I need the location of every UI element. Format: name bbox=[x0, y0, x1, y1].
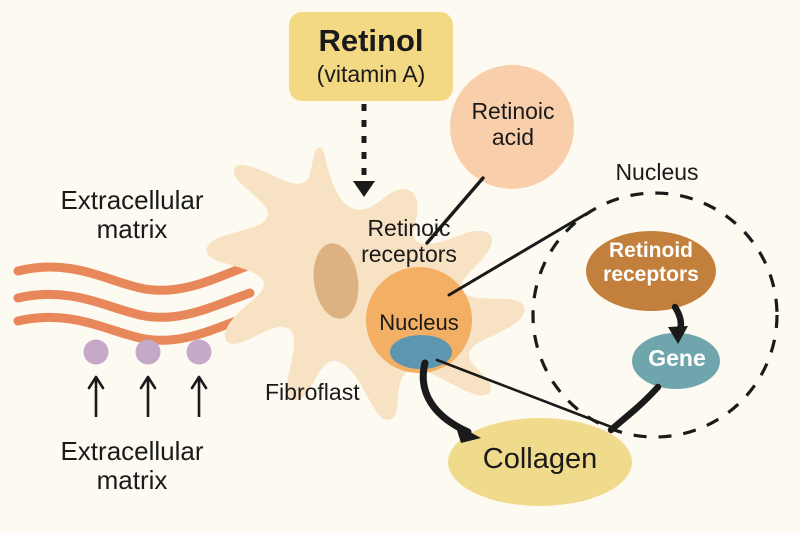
cell-nucleus-shape bbox=[366, 267, 472, 373]
connector-gene-to-collagen bbox=[611, 387, 658, 430]
retinol-box bbox=[289, 12, 453, 101]
retinoid-receptors-shape bbox=[586, 231, 716, 311]
ecm-dots bbox=[84, 340, 212, 365]
connector-nucleus-thin-line bbox=[437, 360, 614, 428]
ecm-fibers bbox=[18, 265, 250, 340]
nucleus-detail-circle bbox=[533, 193, 777, 437]
ecm-up-arrows bbox=[89, 377, 206, 417]
collagen-shape bbox=[448, 418, 632, 506]
gene-shape bbox=[632, 333, 720, 389]
retinoic-acid-shape bbox=[450, 65, 574, 189]
diagram-canvas: Retinol (vitamin A) Retinoic acid Retino… bbox=[0, 0, 800, 533]
connector-retinol-to-fibroblast bbox=[353, 104, 375, 197]
